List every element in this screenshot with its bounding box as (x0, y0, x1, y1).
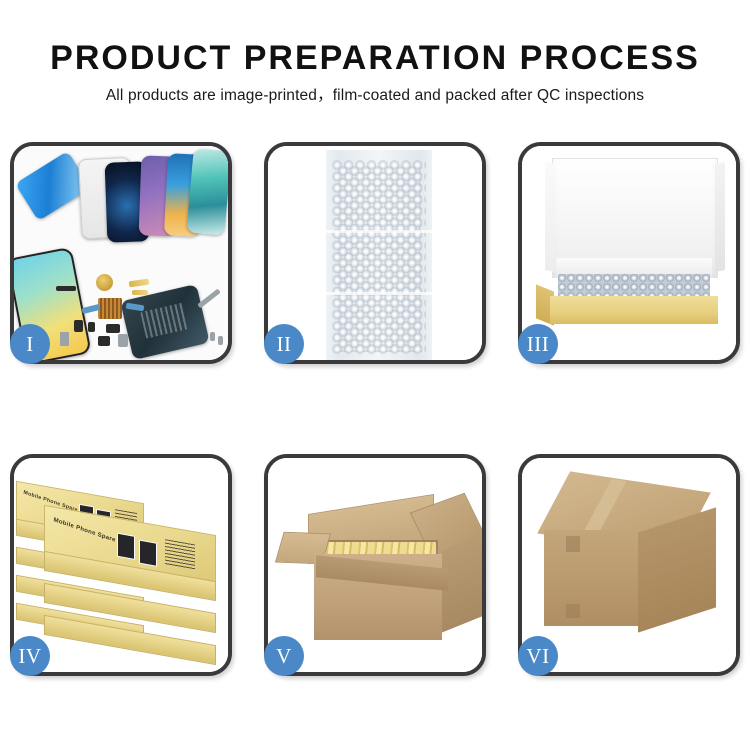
bubble-wrap-column (326, 150, 432, 360)
component-gold-coil (96, 274, 113, 291)
box-screen-thumb-front-b (139, 540, 157, 567)
step-badge-5: V (264, 636, 304, 676)
component-screw-b (218, 336, 223, 345)
step-card-4[interactable]: Mobile Phone Spare Parts Mobile Phone Sp… (10, 454, 232, 676)
component-flex-cable-a (129, 279, 150, 288)
component-camera-module (106, 324, 120, 333)
wrap-seam-lower (326, 292, 432, 295)
header: PRODUCT PREPARATION PROCESS All products… (0, 0, 750, 106)
page-subtitle: All products are image-printed，film-coat… (0, 86, 750, 106)
bubble-wrap-scene (268, 146, 482, 360)
component-bracket-b (88, 322, 95, 332)
infographic-page: PRODUCT PREPARATION PROCESS All products… (0, 0, 750, 750)
inner-box-scene (522, 146, 736, 360)
step-badge-4: IV (10, 636, 50, 676)
step-image-5 (268, 458, 482, 672)
component-sim-tray (60, 332, 69, 346)
phone-internals (120, 284, 209, 360)
step-image-4: Mobile Phone Spare Parts Mobile Phone Sp… (14, 458, 228, 672)
step-card-3[interactable]: III (518, 142, 740, 364)
carton-side-face (442, 534, 482, 633)
open-carton-scene (268, 458, 482, 672)
stacked-boxes-scene: Mobile Phone Spare Parts Mobile Phone Sp… (14, 458, 228, 672)
step-image-1 (14, 146, 228, 360)
step-card-1[interactable]: I (10, 142, 232, 364)
component-speaker-bar (56, 286, 76, 291)
box-spec-lines-front (165, 539, 195, 570)
component-screwdriver (197, 289, 221, 309)
carton-left-face (544, 530, 638, 626)
step-badge-1: I (10, 324, 50, 364)
component-flex-cable-b (132, 290, 148, 295)
phone-parts-scene (14, 146, 228, 360)
sealed-carton-scene (522, 458, 736, 672)
bubble-pattern-front (338, 166, 422, 352)
carton-seam-tab-upper (566, 536, 580, 552)
wrap-seam-upper (326, 230, 432, 233)
step-image-6 (522, 458, 736, 672)
component-chip-grid (98, 298, 122, 319)
box-front-kraft (550, 296, 718, 324)
step-image-2 (268, 146, 482, 360)
step-card-5[interactable]: V (264, 454, 486, 676)
component-screw-a (210, 332, 215, 341)
bubble-wrapped-contents (558, 274, 710, 298)
step-badge-2: II (264, 324, 304, 364)
component-vibrator (98, 336, 110, 346)
step-badge-6: VI (518, 636, 558, 676)
step-image-3 (522, 146, 736, 360)
process-step-grid: I II (10, 142, 740, 676)
page-title: PRODUCT PREPARATION PROCESS (0, 38, 750, 78)
box-screen-thumb-front-a (117, 533, 135, 560)
step-card-6[interactable]: VI (518, 454, 740, 676)
carton-seam-tab-lower (566, 604, 580, 618)
step-badge-3: III (518, 324, 558, 364)
component-battery-cell (118, 334, 128, 347)
component-bracket-a (74, 320, 83, 332)
step-card-2[interactable]: II (264, 142, 486, 364)
screen-teal (186, 149, 228, 236)
